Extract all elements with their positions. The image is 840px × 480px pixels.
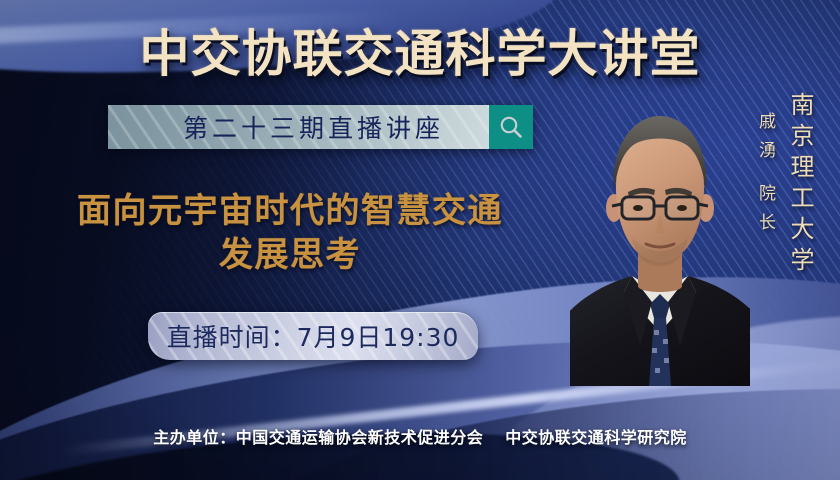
speaker-organization: 南京理工大学: [783, 92, 818, 278]
lecture-poster: 中交协联交通科学大讲堂 第二十三期直播讲座 面向元宇宙时代的智慧交通 发展思考 …: [0, 0, 840, 480]
organizer-secondary: 中交协联交通科学研究院: [505, 428, 687, 447]
series-banner-label: 第二十三期直播讲座: [153, 109, 444, 145]
organizers-footer: 主办单位：中国交通运输协会新技术促进分会中交协联交通科学研究院: [0, 424, 840, 448]
live-time-label: 直播时间：7月9日19:30: [167, 318, 460, 354]
series-banner-body: 第二十三期直播讲座: [108, 105, 489, 149]
series-banner: 第二十三期直播讲座: [108, 105, 533, 149]
lecture-title: 面向元宇宙时代的智慧交通 发展思考: [30, 190, 550, 277]
speaker-photo: [570, 96, 750, 386]
speaker-name-title: 戚湧院长: [753, 112, 778, 242]
lecture-title-line1: 面向元宇宙时代的智慧交通: [77, 191, 503, 231]
speaker-name: 戚湧: [755, 112, 775, 170]
search-icon[interactable]: [489, 105, 533, 149]
speaker-title: 院长: [755, 184, 775, 242]
page-title: 中交协联交通科学大讲堂: [0, 14, 840, 86]
lecture-title-line2: 发展思考: [30, 234, 550, 278]
live-time-badge: 直播时间：7月9日19:30: [148, 312, 478, 360]
organizer-primary: 主办单位：中国交通运输协会新技术促进分会: [153, 428, 483, 447]
